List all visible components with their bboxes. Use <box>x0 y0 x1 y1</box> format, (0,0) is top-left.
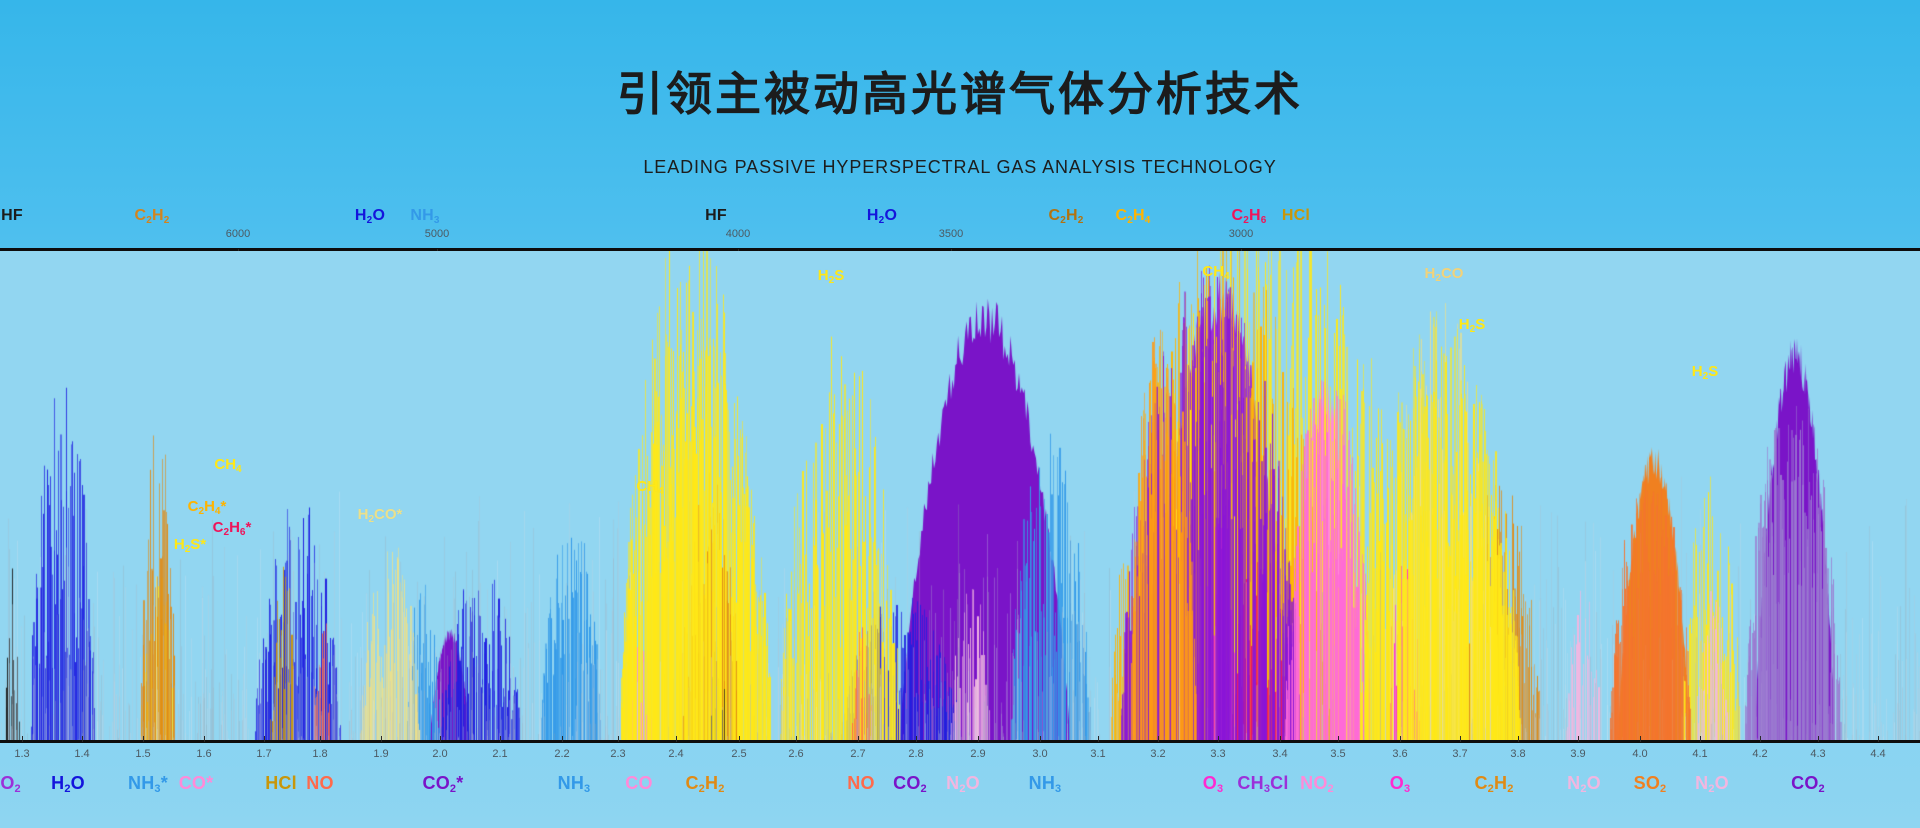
axis-tick-label: 3.8 <box>1510 748 1525 760</box>
axis-tick-label: 3.1 <box>1090 748 1105 760</box>
species-label-c2h6: C2H6 <box>1231 207 1266 225</box>
axis-tick-mark <box>676 736 677 742</box>
axis-tick-label: 2.6 <box>788 748 803 760</box>
axis-tick-label: 4.2 <box>1752 748 1767 760</box>
axis-tick-label: 5000 <box>425 228 449 240</box>
species-label-nh3: NH3 <box>558 773 591 794</box>
species-label-co2s: CO2* <box>423 773 464 794</box>
axis-tick-mark <box>1518 736 1519 742</box>
axis-tick-label: 1.6 <box>196 748 211 760</box>
axis-tick-mark <box>1040 736 1041 742</box>
axis-tick-label: 1.4 <box>74 748 89 760</box>
axis-tick-mark <box>440 736 441 742</box>
plot-label-h2s: H2S <box>1692 363 1718 380</box>
axis-tick-label: 4.3 <box>1810 748 1825 760</box>
axis-tick-label: 4.0 <box>1632 748 1647 760</box>
species-label-hcl: HCl <box>265 773 297 794</box>
axis-tick-label: 1.8 <box>312 748 327 760</box>
axis-tick-mark <box>264 736 265 742</box>
plot-label-h2cos: H2CO* <box>358 506 403 523</box>
axis-tick-mark <box>1878 736 1879 742</box>
axis-tick-mark <box>320 736 321 742</box>
species-label-co2: CO2 <box>893 773 927 794</box>
spectrum-plot: CH4C2H4*C2H6*H2S*H2CO*CH4H2SCH4H2COH2SH2… <box>0 251 1920 740</box>
species-label-c2h4: C2H4 <box>1115 207 1150 225</box>
axis-tick-label: 2.0 <box>432 748 447 760</box>
species-label-n2o: N2O <box>946 773 980 794</box>
axis-tick-mark <box>204 736 205 742</box>
axis-tick-label: 3500 <box>939 228 963 240</box>
bottom-axis-line <box>0 740 1920 743</box>
axis-tick-label: 2.4 <box>668 748 683 760</box>
axis-tick-mark <box>1818 736 1819 742</box>
plot-label-h2s: H2S <box>818 267 844 284</box>
species-label-hf: HF <box>1 207 23 225</box>
axis-tick-mark <box>1460 736 1461 742</box>
axis-tick-label: 3.7 <box>1452 748 1467 760</box>
axis-tick-label: 1.3 <box>14 748 29 760</box>
species-label-no: NO <box>847 773 874 794</box>
axis-tick-mark <box>1218 736 1219 742</box>
axis-tick-mark <box>1338 736 1339 742</box>
species-label-c2h2: C2H2 <box>134 207 169 225</box>
axis-tick-mark <box>916 736 917 742</box>
plot-label-h2ss: H2S* <box>174 536 206 553</box>
plot-label-ch4: CH4 <box>214 456 241 473</box>
axis-tick-label: 2.7 <box>850 748 865 760</box>
species-label-n2o: N2O <box>1567 773 1601 794</box>
species-label-no2: NO2 <box>1300 773 1334 794</box>
axis-tick-mark <box>796 736 797 742</box>
species-label-co: CO <box>625 773 652 794</box>
axis-tick-label: 3.9 <box>1570 748 1585 760</box>
plot-label-ch4: CH4 <box>1202 263 1229 280</box>
species-label-co2: CO2 <box>0 773 21 794</box>
axis-tick-label: 2.3 <box>610 748 625 760</box>
plot-label-h2s: H2S <box>1459 316 1485 333</box>
axis-tick-mark <box>143 736 144 742</box>
page-title: 引领主被动高光谱气体分析技术 <box>0 58 1920 124</box>
axis-tick-mark <box>739 736 740 742</box>
axis-tick-mark <box>1760 736 1761 742</box>
axis-tick-mark <box>1578 736 1579 742</box>
axis-tick-label: 4.4 <box>1870 748 1885 760</box>
axis-tick-label: 3000 <box>1229 228 1253 240</box>
species-label-cos: CO* <box>179 773 214 794</box>
axis-tick-label: 1.9 <box>373 748 388 760</box>
axis-tick-label: 6000 <box>226 228 250 240</box>
axis-tick-label: 2.5 <box>731 748 746 760</box>
species-label-o3: O3 <box>1390 773 1411 794</box>
axis-tick-label: 3.0 <box>1032 748 1047 760</box>
axis-tick-mark <box>1098 736 1099 742</box>
axis-tick-label: 1.7 <box>256 748 271 760</box>
axis-tick-mark <box>978 736 979 742</box>
axis-tick-mark <box>562 736 563 742</box>
plot-label-h2co: H2CO <box>1425 265 1464 282</box>
axis-tick-mark <box>22 736 23 742</box>
axis-tick-label: 3.6 <box>1392 748 1407 760</box>
axis-tick-label: 2.8 <box>908 748 923 760</box>
species-label-nh3: NH3 <box>410 207 439 225</box>
species-label-h2o: H2O <box>867 207 897 225</box>
axis-tick-mark <box>1700 736 1701 742</box>
axis-tick-mark <box>1400 736 1401 742</box>
axis-tick-mark <box>1640 736 1641 742</box>
axis-tick-mark <box>1158 736 1159 742</box>
axis-tick-mark <box>82 736 83 742</box>
axis-tick-label: 2.1 <box>492 748 507 760</box>
axis-tick-label: 3.3 <box>1210 748 1225 760</box>
species-label-c2h2: C2H2 <box>1048 207 1083 225</box>
axis-tick-mark <box>618 736 619 742</box>
spectra-canvas <box>0 251 1920 740</box>
species-label-o3: O3 <box>1203 773 1224 794</box>
species-label-nh3: NH3 <box>1029 773 1062 794</box>
species-label-co2: CO2 <box>1791 773 1825 794</box>
page-header: 引领主被动高光谱气体分析技术 LEADING PASSIVE HYPERSPEC… <box>0 0 1920 200</box>
axis-tick-label: 4.1 <box>1692 748 1707 760</box>
species-label-h2o: H2O <box>355 207 385 225</box>
plot-label-ch4: CH4 <box>636 478 663 495</box>
axis-tick-mark <box>500 736 501 742</box>
axis-tick-mark <box>858 736 859 742</box>
axis-tick-mark <box>381 736 382 742</box>
axis-tick-label: 3.4 <box>1272 748 1287 760</box>
species-label-c2h2: C2H2 <box>685 773 724 794</box>
axis-tick-label: 4000 <box>726 228 750 240</box>
species-label-hf: HF <box>705 207 727 225</box>
plot-label-c2h4s: C2H4* <box>188 498 227 515</box>
axis-tick-label: 3.5 <box>1330 748 1345 760</box>
axis-tick-label: 1.5 <box>135 748 150 760</box>
species-label-no: NO <box>306 773 333 794</box>
axis-tick-label: 2.2 <box>554 748 569 760</box>
species-label-h2o: H2O <box>51 773 85 794</box>
axis-tick-mark <box>1280 736 1281 742</box>
species-label-so2: SO2 <box>1634 773 1667 794</box>
plot-label-c2h6s: C2H6* <box>213 519 252 536</box>
species-label-nh3s: NH3* <box>128 773 168 794</box>
axis-tick-label: 3.2 <box>1150 748 1165 760</box>
axis-tick-label: 2.9 <box>970 748 985 760</box>
species-label-hcl: HCl <box>1282 207 1310 225</box>
species-label-ch3cl: CH3Cl <box>1237 773 1288 794</box>
species-label-c2h2: C2H2 <box>1474 773 1513 794</box>
species-label-n2o: N2O <box>1695 773 1729 794</box>
page-subtitle: LEADING PASSIVE HYPERSPECTRAL GAS ANALYS… <box>0 157 1920 178</box>
